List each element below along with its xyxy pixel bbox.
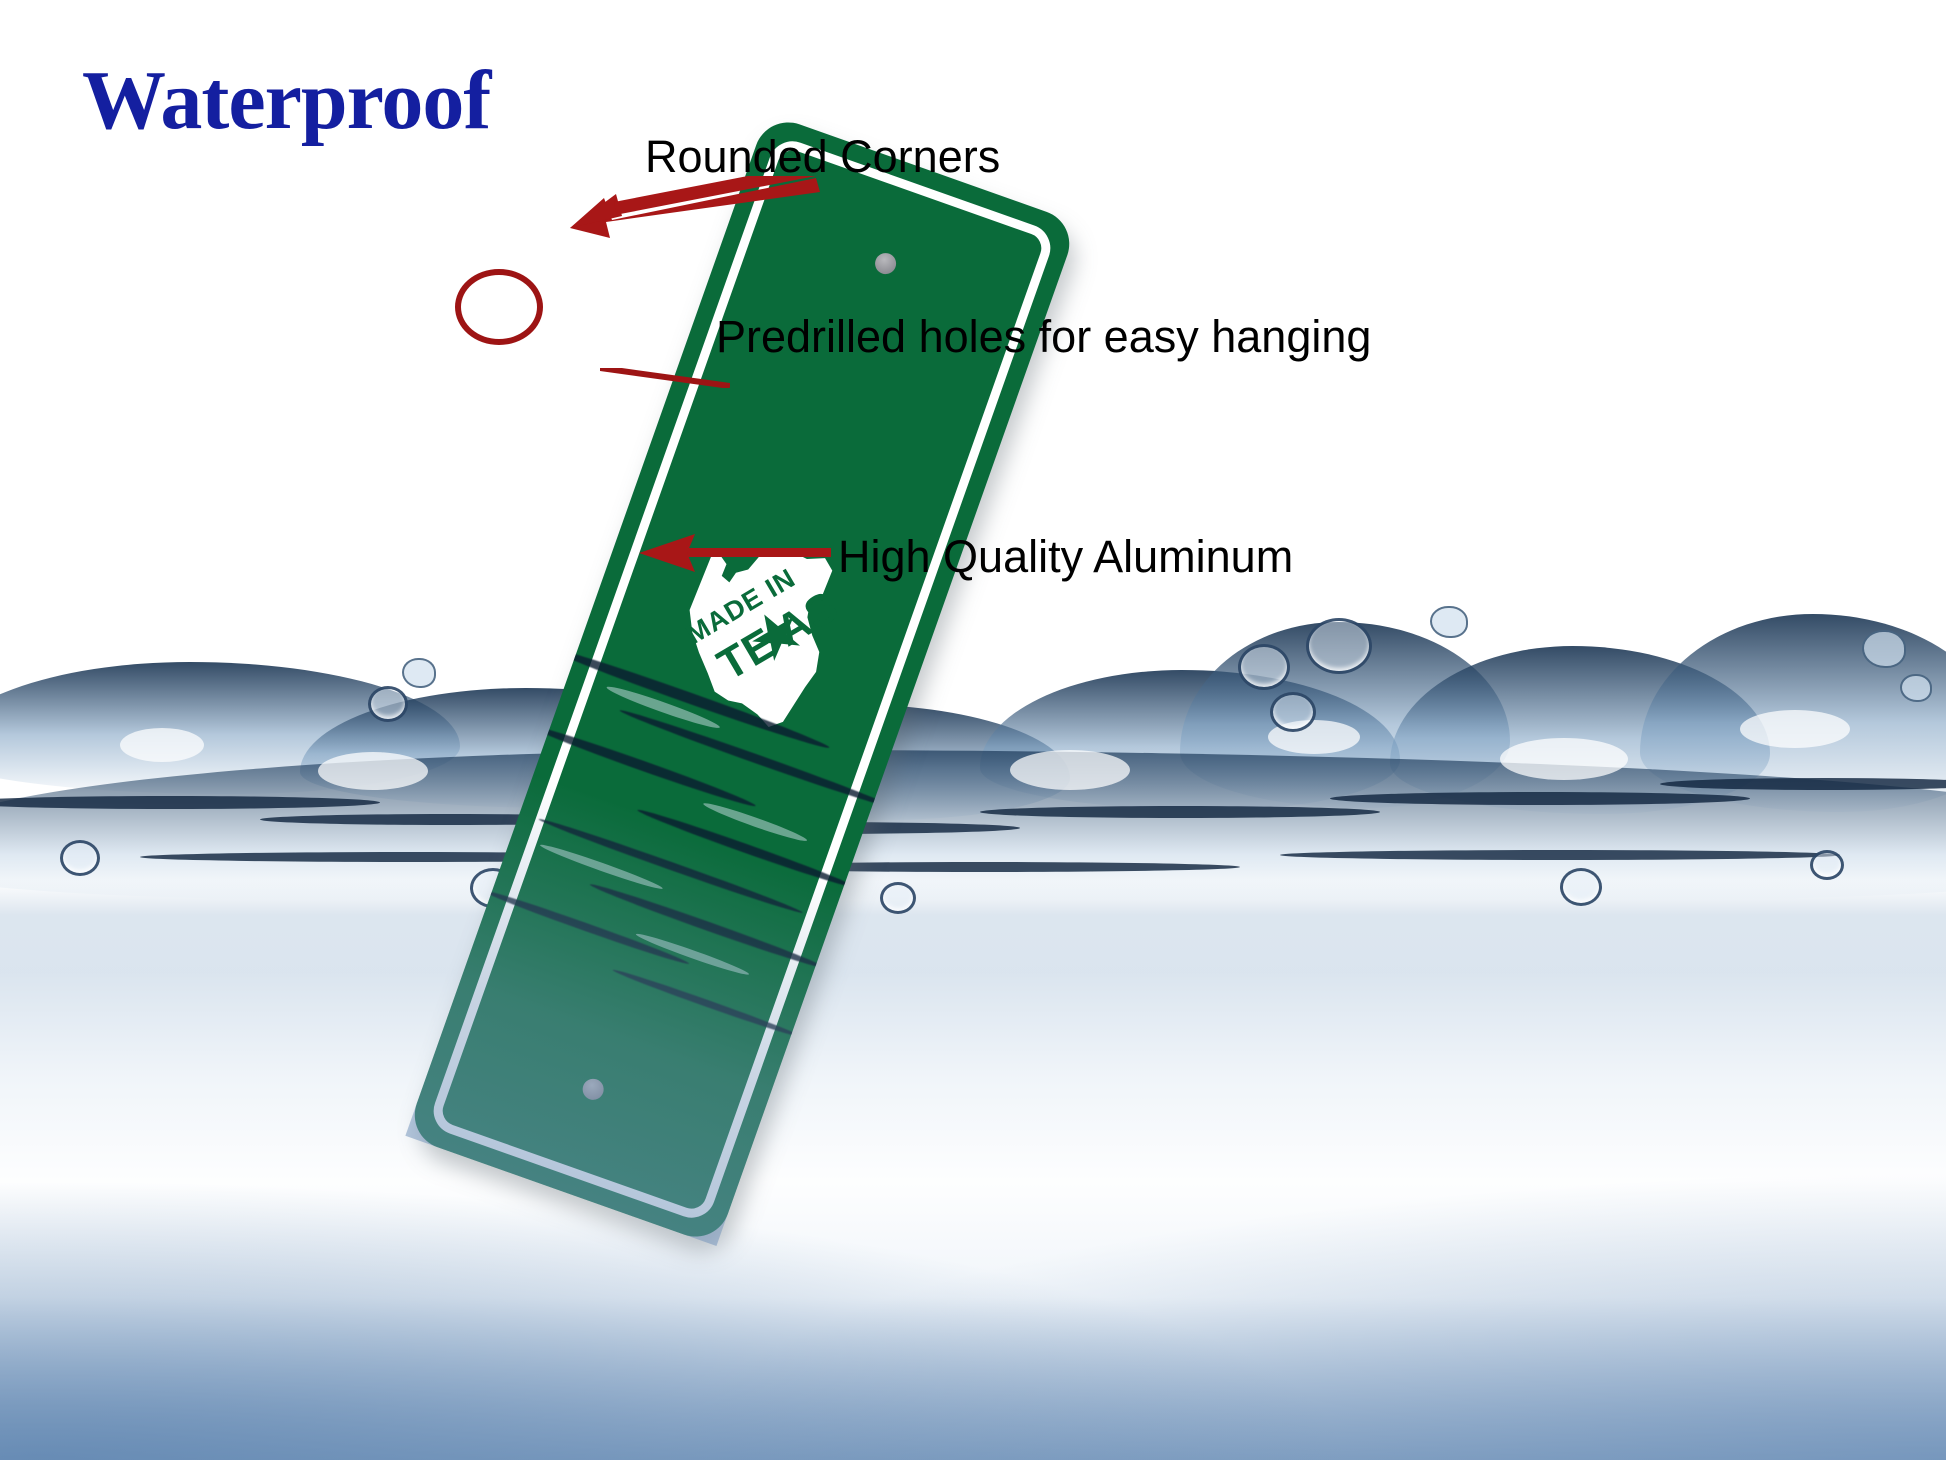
circle-highlight-icon-predrilled-hole — [455, 269, 543, 345]
leader-line-predrilled-holes — [600, 368, 730, 388]
page-title: Waterproof — [82, 52, 490, 149]
arrow-icon-high-quality-aluminum — [639, 532, 831, 574]
label-predrilled-holes: Predrilled holes for easy hanging — [716, 311, 1371, 363]
arrow-icon-rounded-corners — [566, 176, 826, 240]
label-high-quality-aluminum: High Quality Aluminum — [838, 531, 1293, 583]
product-feature-callout-image: Waterproof MADE IN TE AS — [0, 0, 1946, 1460]
